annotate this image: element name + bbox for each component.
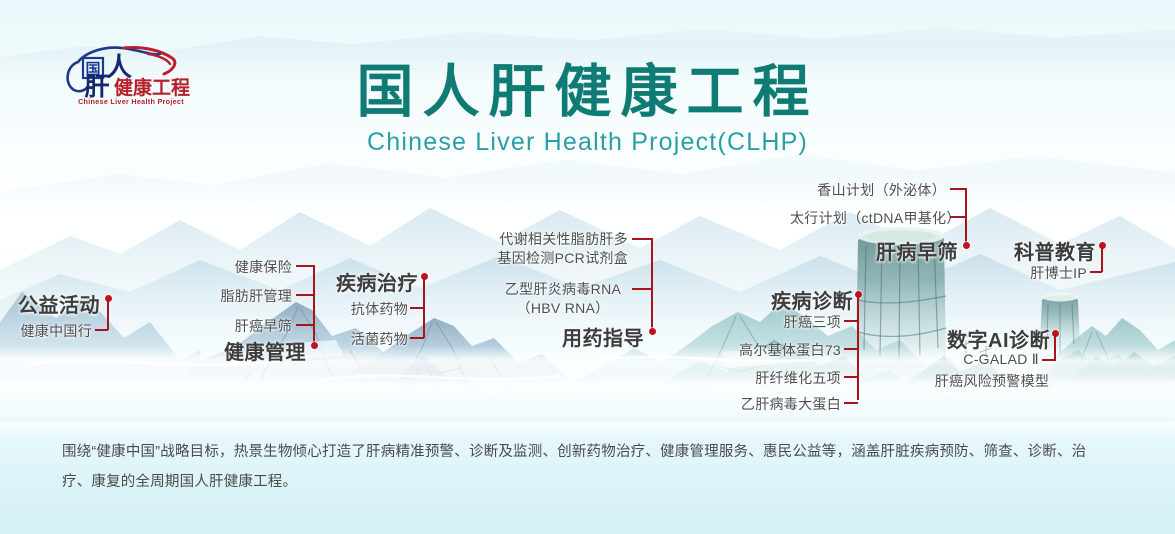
node-group-medication-guidance[interactable]: 代谢相关性脂肪肝多 基因检测PCR试剂盒 乙型肝炎病毒RNA （HBV RNA）…: [480, 228, 670, 353]
node-group-early-liver-screening[interactable]: 香山计划（外泌体） 太行计划（ctDNA甲基化） 肝病早筛: [790, 178, 980, 263]
description-paragraph: 围绕“健康中国”战略目标，热景生物倾心打造了肝病精准预警、诊断及监测、创新药物治…: [62, 437, 1110, 497]
node-main-label-early-liver-screening[interactable]: 肝病早筛: [790, 236, 958, 265]
connector-tick-digital-ai-diagnosis-0: [1042, 359, 1056, 361]
node-main-label-health-management[interactable]: 健康管理: [180, 336, 306, 365]
node-sub-label-digital-ai-diagnosis-1[interactable]: 肝癌风险预警模型: [930, 371, 1054, 391]
connector-tick-medication-guidance-0: [632, 238, 652, 240]
node-main-label-public-welfare[interactable]: 公益活动: [0, 289, 100, 318]
node-main-label-science-education[interactable]: 科普教育: [1000, 236, 1096, 265]
page-subtitle: Chinese Liver Health Project(CLHP): [0, 128, 1175, 157]
connector-tick-disease-diagnosis-1: [844, 348, 858, 350]
connector-tick-early-liver-screening-1: [950, 216, 966, 218]
connector-vline-digital-ai-diagnosis: [1054, 334, 1056, 360]
node-sub-label-medication-guidance-1[interactable]: 乙型肝炎病毒RNA （HBV RNA）: [498, 280, 628, 318]
connector-tick-health-management-1: [296, 294, 314, 296]
node-sub-label-health-management-0[interactable]: 健康保险: [180, 257, 292, 277]
page-title: 国人肝健康工程: [0, 62, 1175, 122]
connector-vline-science-education: [1101, 246, 1103, 272]
connector-tick-disease-diagnosis-0: [844, 320, 858, 322]
node-dot-health-management: [311, 342, 318, 349]
connector-tick-disease-diagnosis-2: [844, 376, 858, 378]
node-sub-label-health-management-2[interactable]: 肝癌早筛: [180, 316, 292, 336]
connector-tick-science-education-0: [1090, 271, 1102, 273]
connector-vline-public-welfare: [107, 299, 109, 330]
node-sub-label-disease-diagnosis-3[interactable]: 乙肝病毒大蛋白: [705, 394, 841, 414]
node-main-label-disease-treatment[interactable]: 疾病治疗: [320, 267, 418, 296]
connector-tick-early-liver-screening-0: [950, 188, 966, 190]
title-block: 国人肝健康工程 Chinese Liver Health Project(CLH…: [0, 62, 1175, 157]
connector-vline-medication-guidance: [651, 238, 653, 331]
connector-tick-disease-treatment-0: [410, 307, 424, 309]
connector-vline-early-liver-screening: [965, 188, 967, 244]
node-sub-label-digital-ai-diagnosis-0[interactable]: C-GALAD Ⅱ: [930, 351, 1039, 368]
node-sub-label-disease-diagnosis-0[interactable]: 肝癌三项: [705, 312, 841, 332]
node-main-label-digital-ai-diagnosis[interactable]: 数字AI诊断: [930, 324, 1050, 353]
node-group-disease-diagnosis[interactable]: 疾病诊断 肝癌三项 高尔基体蛋白73 肝纤维化五项 乙肝病毒大蛋白: [705, 282, 870, 407]
node-group-public-welfare[interactable]: 公益活动 健康中国行: [0, 280, 140, 350]
connector-tick-public-welfare-0: [95, 329, 108, 331]
connector-tick-health-management-2: [296, 324, 314, 326]
node-sub-label-disease-diagnosis-1[interactable]: 高尔基体蛋白73: [705, 340, 841, 360]
connector-tick-disease-treatment-1: [410, 337, 424, 339]
poster-canvas: 国 人 肝 健康工程 Chinese Liver Health Project …: [0, 0, 1175, 534]
node-main-label-medication-guidance[interactable]: 用药指导: [480, 322, 644, 351]
node-sub-label-public-welfare-0[interactable]: 健康中国行: [0, 321, 92, 341]
node-sub-label-medication-guidance-0[interactable]: 代谢相关性脂肪肝多 基因检测PCR试剂盒: [480, 230, 628, 268]
node-group-digital-ai-diagnosis[interactable]: 数字AI诊断 C-GALAD Ⅱ 肝癌风险预警模型: [930, 320, 1130, 385]
node-sub-label-disease-treatment-1[interactable]: 活菌药物: [320, 329, 408, 349]
node-group-science-education[interactable]: 科普教育 肝博士IP: [1000, 232, 1160, 292]
node-sub-label-early-liver-screening-0[interactable]: 香山计划（外泌体）: [790, 180, 946, 200]
node-main-label-disease-diagnosis[interactable]: 疾病诊断: [705, 285, 853, 314]
node-sub-label-disease-diagnosis-2[interactable]: 肝纤维化五项: [705, 368, 841, 388]
node-dot-early-liver-screening: [963, 242, 970, 249]
node-group-disease-treatment[interactable]: 疾病治疗 抗体药物 活菌药物: [320, 258, 450, 358]
connector-vline-health-management: [313, 265, 315, 345]
connector-tick-disease-diagnosis-3: [844, 402, 858, 404]
connector-tick-medication-guidance-1: [632, 288, 652, 290]
node-sub-label-science-education-0[interactable]: 肝博士IP: [1000, 263, 1087, 283]
node-dot-medication-guidance: [649, 328, 656, 335]
connector-tick-health-management-0: [296, 265, 314, 267]
node-sub-label-health-management-1[interactable]: 脂肪肝管理: [180, 286, 292, 306]
node-sub-label-early-liver-screening-1[interactable]: 太行计划（ctDNA甲基化）: [790, 208, 946, 228]
node-group-health-management[interactable]: 健康保险 脂肪肝管理 肝癌早筛 健康管理: [180, 252, 330, 362]
node-sub-label-disease-treatment-0[interactable]: 抗体药物: [320, 299, 408, 319]
